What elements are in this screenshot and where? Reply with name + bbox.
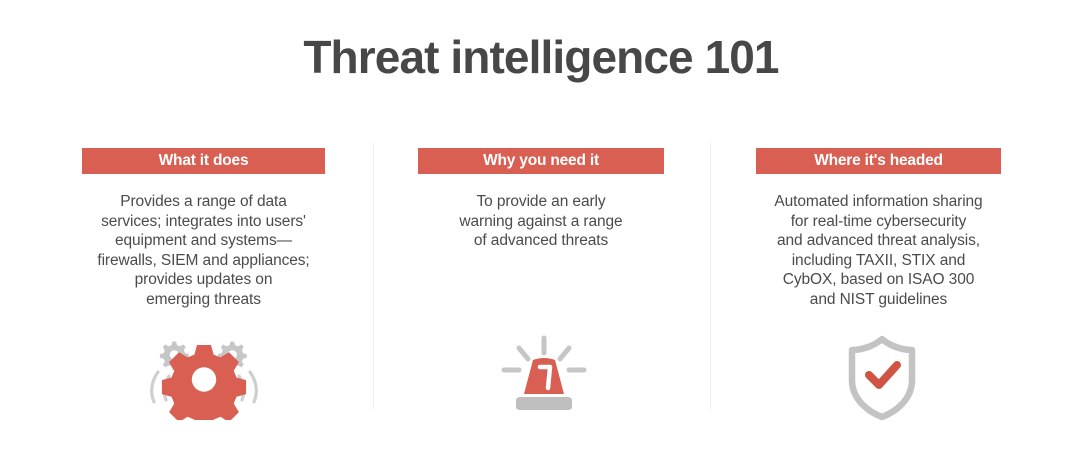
body-line: equipment and systems— [82,231,325,251]
shield-check-icon [802,332,962,422]
column-header-why-you-need-it: Why you need it [418,148,664,174]
body-line: and NIST guidelines [756,290,1001,310]
body-line: including TAXII, STIX and [756,251,1001,271]
body-line: Provides a range of data [82,192,325,212]
column-what-it-does: What it does Provides a range of data se… [82,148,325,309]
body-line: of advanced threats [418,231,664,251]
siren-alert-icon [464,332,624,422]
body-line: CybOX, based on ISAO 300 [756,270,1001,290]
page-title: Threat intelligence 101 [0,28,1082,86]
column-where-its-headed: Where it's headed Automated information … [756,148,1001,309]
gears-icon [124,330,284,420]
column-body-what-it-does: Provides a range of data services; integ… [82,192,325,309]
body-line: services; integrates into users' [82,212,325,232]
body-line: for real-time cybersecurity [756,212,1001,232]
column-body-why-you-need-it: To provide an early warning against a ra… [418,192,664,251]
body-line: Automated information sharing [756,192,1001,212]
infographic-canvas: Threat intelligence 101 What it does Pro… [0,0,1082,457]
body-line: firewalls, SIEM and appliances; [82,251,325,271]
column-header-what-it-does: What it does [82,148,325,174]
body-line: provides updates on [82,270,325,290]
column-header-where-its-headed: Where it's headed [756,148,1001,174]
body-line: and advanced threat analysis, [756,231,1001,251]
body-line: emerging threats [82,290,325,310]
column-why-you-need-it: Why you need it To provide an early warn… [418,148,664,251]
body-line: To provide an early [418,192,664,212]
column-body-where-its-headed: Automated information sharing for real-t… [756,192,1001,309]
body-line: warning against a range [418,212,664,232]
